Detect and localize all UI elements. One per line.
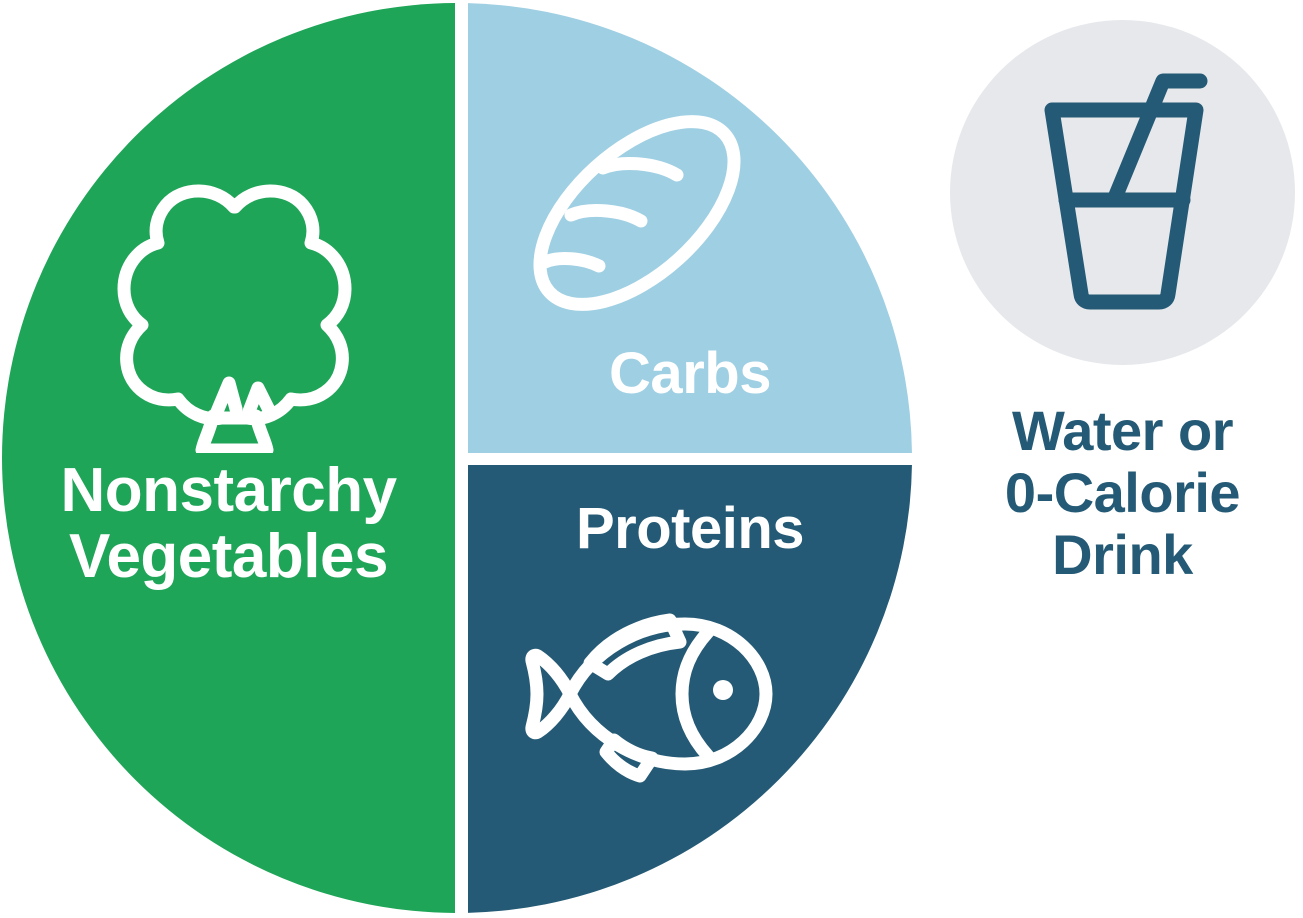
drink-glass-straw-icon (1040, 48, 1208, 316)
broccoli-icon (112, 178, 357, 453)
plate-circle: Nonstarchy Vegetables Carbs Proteins (2, 3, 912, 913)
plate-section-label-carbs: Carbs (468, 343, 912, 404)
bread-loaf-icon (507, 98, 767, 328)
plate-method-diagram: Nonstarchy Vegetables Carbs Proteins Wat… (0, 0, 1303, 918)
plate-section-label-proteins: Proteins (468, 498, 912, 559)
drink-label: Water or 0-Calorie Drink (945, 400, 1300, 586)
plate-section-label-vegetables: Nonstarchy Vegetables (2, 458, 455, 589)
fish-icon (522, 608, 787, 783)
